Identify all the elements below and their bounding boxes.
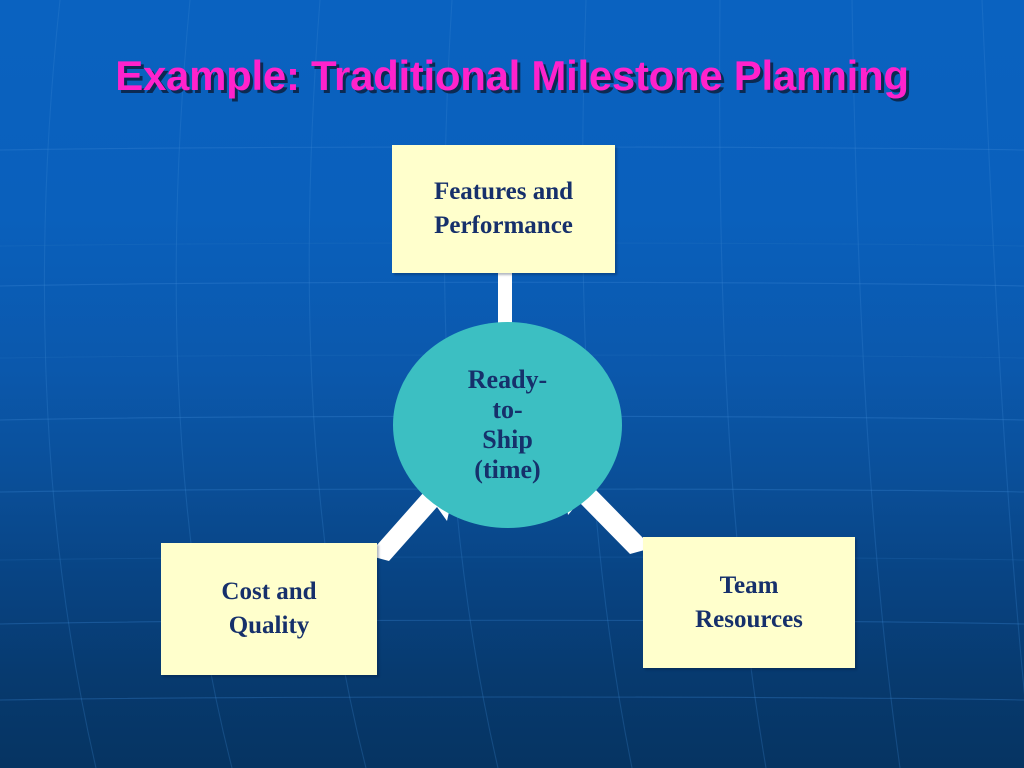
center-circle-line-3: Ship xyxy=(393,425,622,455)
slide-title: Example: Traditional Milestone Planning xyxy=(0,52,1024,100)
center-circle-line-4: (time) xyxy=(393,455,622,485)
node-box-team-line-1: Team xyxy=(643,569,855,603)
slide-canvas: Example: Traditional Milestone Planning … xyxy=(0,0,1024,768)
node-box-features-label: Features and Performance xyxy=(392,175,615,243)
node-box-cost-line-2: Quality xyxy=(161,609,377,643)
node-box-team-label: Team Resources xyxy=(643,569,855,637)
center-circle-ready-to-ship[interactable]: Ready- to- Ship (time) xyxy=(393,322,622,528)
center-circle-label: Ready- to- Ship (time) xyxy=(393,365,622,486)
node-box-cost-label: Cost and Quality xyxy=(161,575,377,643)
node-box-features-line-1: Features and xyxy=(392,175,615,209)
center-circle-line-2: to- xyxy=(393,395,622,425)
node-box-features-and-performance[interactable]: Features and Performance xyxy=(392,145,615,273)
node-box-team-line-2: Resources xyxy=(643,603,855,637)
center-circle-line-1: Ready- xyxy=(393,365,622,395)
node-box-features-line-2: Performance xyxy=(392,209,615,243)
node-box-cost-line-1: Cost and xyxy=(161,575,377,609)
node-box-cost-and-quality[interactable]: Cost and Quality xyxy=(161,543,377,675)
node-box-team-resources[interactable]: Team Resources xyxy=(643,537,855,668)
